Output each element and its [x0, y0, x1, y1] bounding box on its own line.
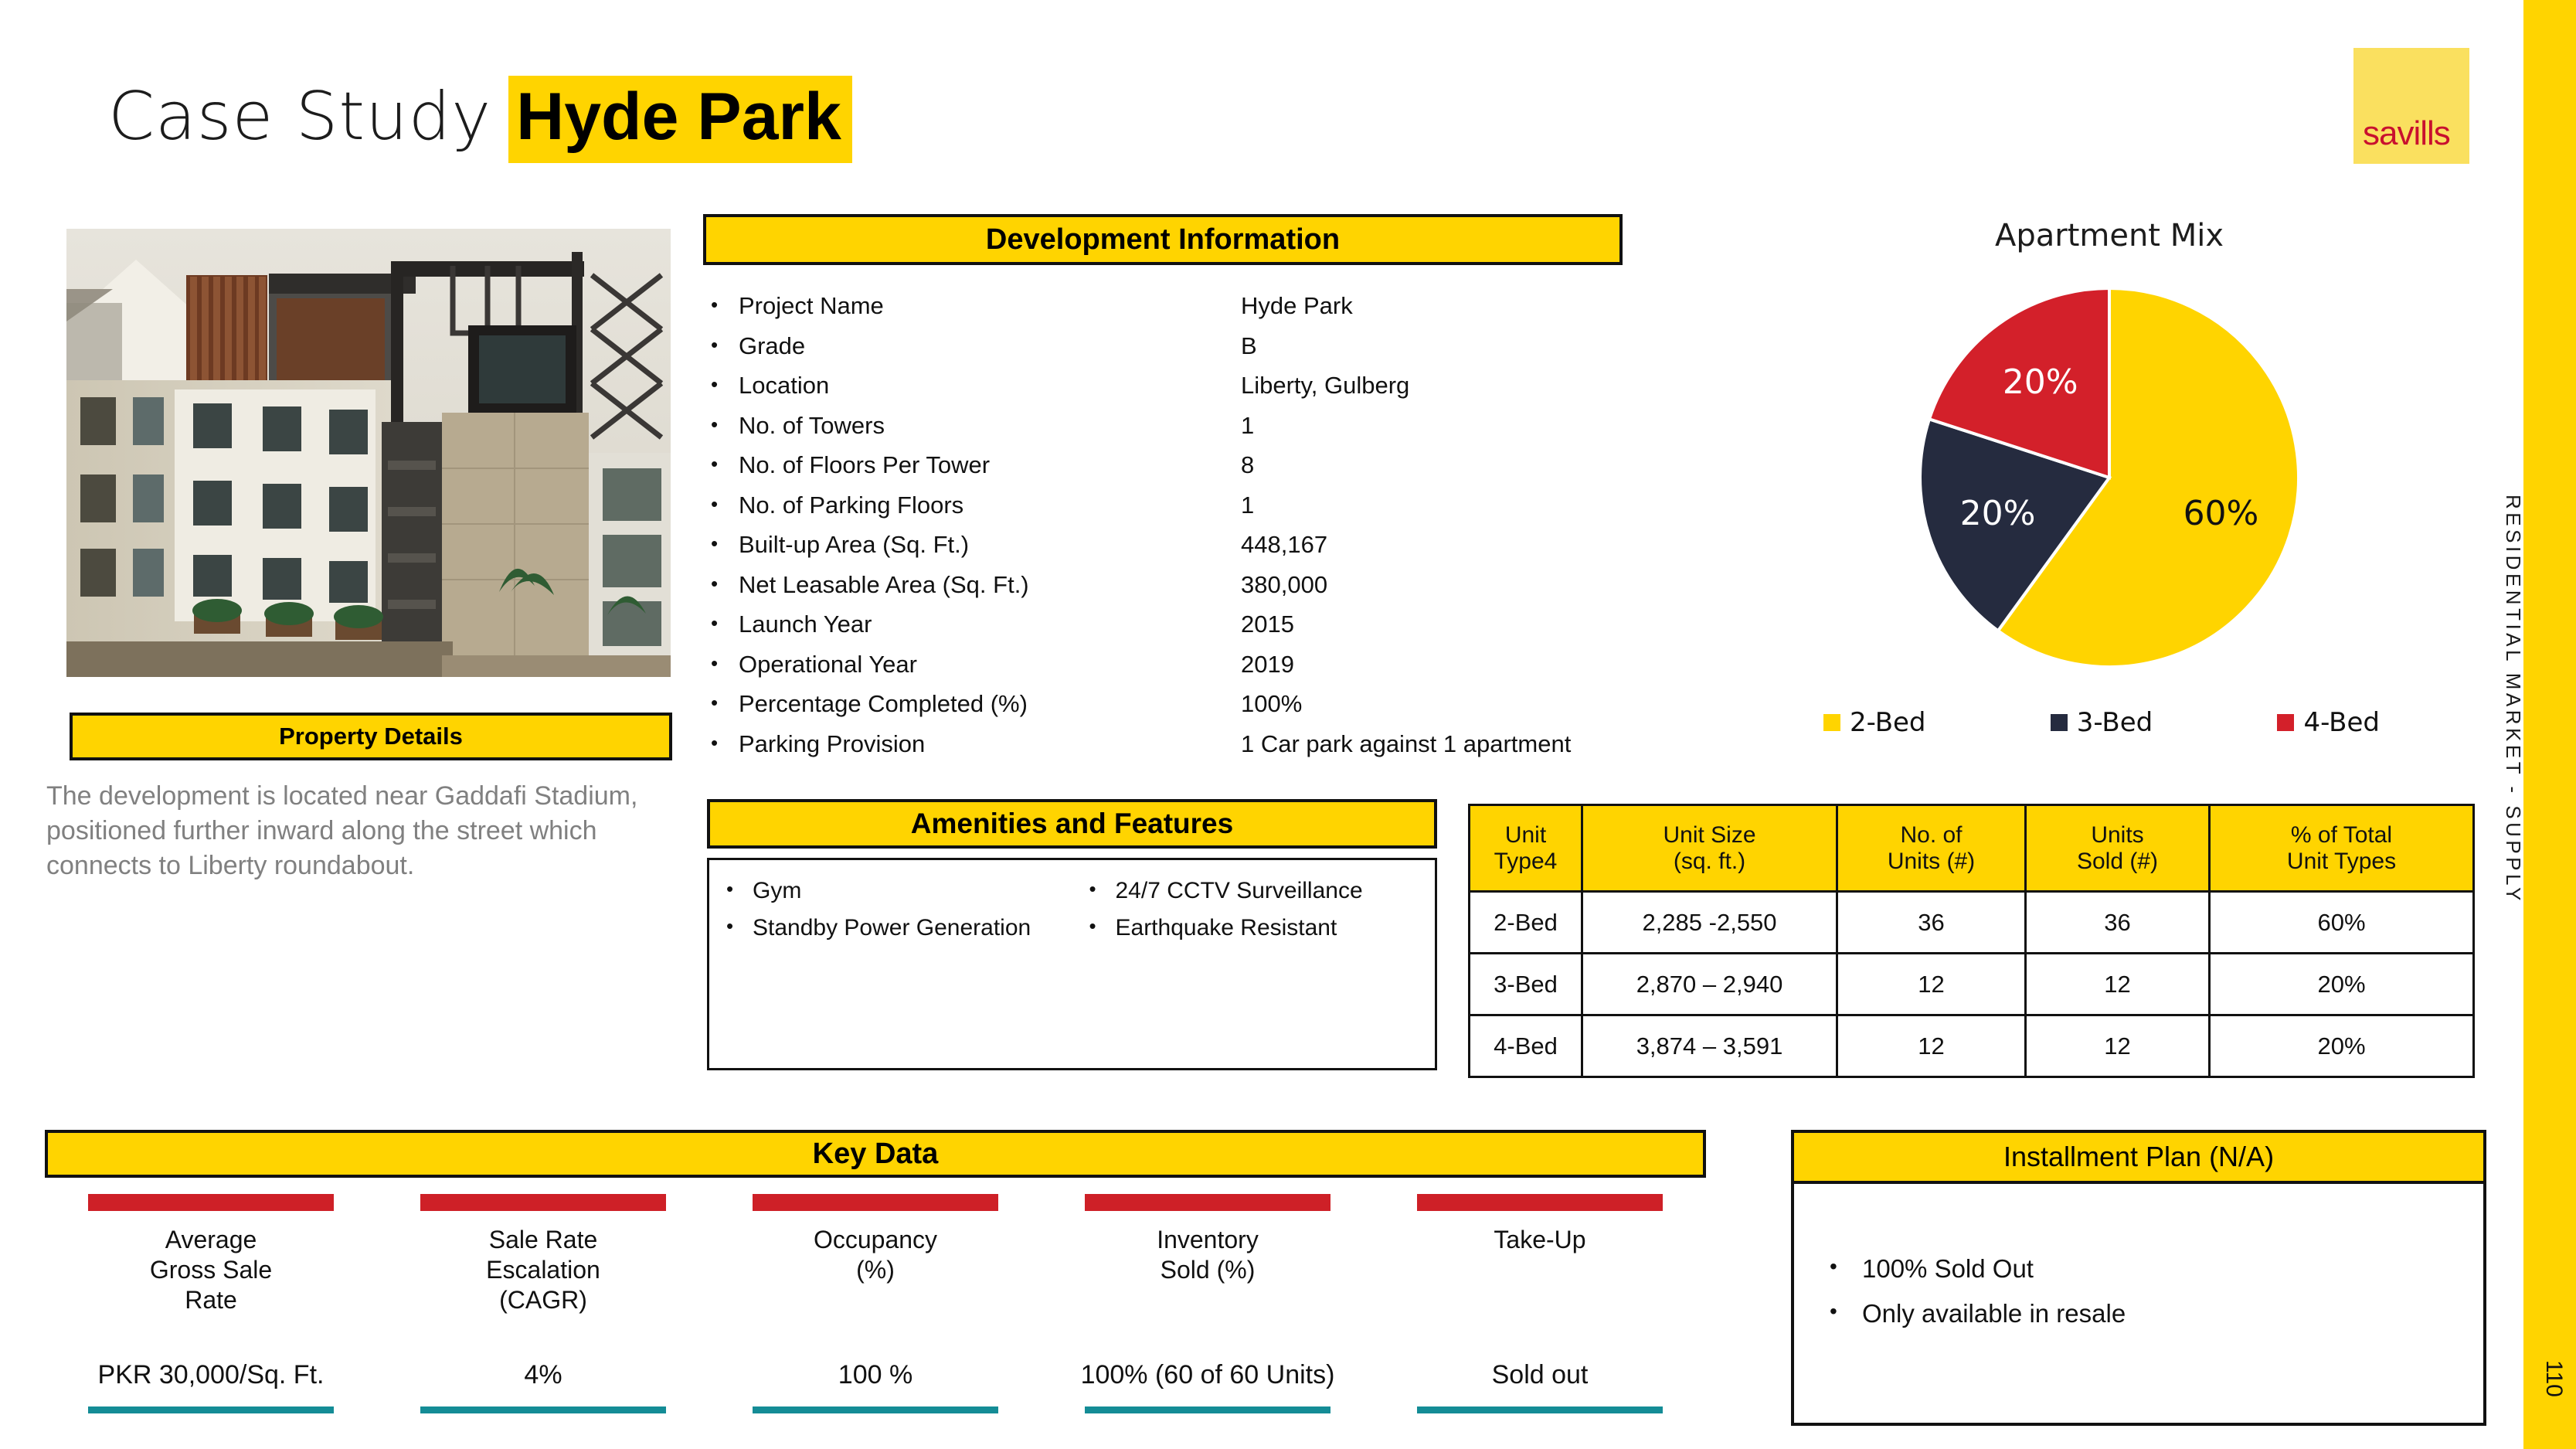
amenity-label: Standby Power Generation	[753, 914, 1072, 942]
unit-table-cell: 4-Bed	[1470, 1015, 1582, 1077]
savills-logo: savills	[2353, 48, 2469, 164]
unit-table-col-header: Unit Size(sq. ft.)	[1582, 805, 1837, 892]
development-info-value: 1 Car park against 1 apartment	[1241, 730, 1653, 759]
key-data-value: Sold out	[1374, 1360, 1706, 1390]
key-data-metric: Sale RateEscalation(CAGR)4%	[377, 1194, 709, 1426]
development-info-row: •Launch Year2015	[711, 611, 1653, 651]
unit-table-cell: 2-Bed	[1470, 892, 1582, 954]
unit-table-cell: 3,874 – 3,591	[1582, 1015, 1837, 1077]
key-data-value: 4%	[377, 1360, 709, 1390]
page-title-prefix: Case Study	[108, 78, 508, 155]
amenities-right-column: •24/7 CCTV Surveillance•Earthquake Resis…	[1072, 877, 1436, 1068]
development-info-row: •Percentage Completed (%)100%	[711, 690, 1653, 730]
unit-table-col-header-line: % of Total	[2212, 822, 2471, 849]
bullet-icon: •	[726, 914, 753, 942]
amenity-label: Gym	[753, 877, 1072, 905]
development-info-label: Net Leasable Area (Sq. Ft.)	[739, 571, 1241, 600]
legend-item-2-bed: 2-Bed	[1823, 707, 1926, 738]
amenity-label: Earthquake Resistant	[1116, 914, 1436, 942]
development-info-value: 1	[1241, 492, 1653, 520]
pie-label-3-bed: 20%	[1960, 494, 2036, 533]
development-info-value: 1	[1241, 412, 1653, 440]
key-data-metric: AverageGross SaleRatePKR 30,000/Sq. Ft.	[45, 1194, 377, 1426]
unit-table-cell: 20%	[2210, 1015, 2474, 1077]
development-info-value: Liberty, Gulberg	[1241, 372, 1653, 400]
unit-table-cell: 12	[2026, 1015, 2210, 1077]
unit-table-cell: 36	[2026, 892, 2210, 954]
key-data-value: PKR 30,000/Sq. Ft.	[45, 1360, 377, 1390]
bullet-icon: •	[726, 877, 753, 905]
unit-table-col-header-line: Units	[2028, 822, 2207, 849]
table-row: 3-Bed2,870 – 2,940121220%	[1470, 954, 2474, 1015]
development-info-row: •GradeB	[711, 332, 1653, 372]
unit-table-col-header-line: Unit	[1472, 822, 1579, 849]
side-rail-label: RESIDENTIAL MARKET - SUPPLY	[2501, 495, 2525, 1036]
amenity-item: •Earthquake Resistant	[1089, 914, 1436, 942]
bullet-icon: •	[711, 451, 739, 477]
legend-swatch-icon	[2277, 714, 2294, 731]
bullet-icon: •	[711, 492, 739, 517]
key-data-underline	[753, 1406, 998, 1413]
unit-table-cell: 2,285 -2,550	[1582, 892, 1837, 954]
key-data-top-bar	[88, 1194, 334, 1211]
bullet-icon: •	[711, 730, 739, 756]
bullet-icon: •	[711, 372, 739, 397]
development-information-list: •Project NameHyde Park•GradeB•LocationLi…	[711, 292, 1653, 770]
key-data-metric: InventorySold (%)100% (60 of 60 Units)	[1042, 1194, 1374, 1426]
bullet-icon: •	[711, 571, 739, 597]
amenities-left-column: •Gym•Standby Power Generation	[709, 877, 1072, 1068]
development-info-value: 2015	[1241, 611, 1653, 639]
apartment-mix-pie-chart: 60%20%20%	[1891, 284, 2328, 671]
pie-svg: 60%20%20%	[1891, 284, 2328, 671]
amenity-label: 24/7 CCTV Surveillance	[1116, 877, 1436, 905]
pie-label-2-bed: 60%	[2183, 494, 2259, 533]
legend-swatch-icon	[2051, 714, 2068, 731]
amenities-header: Amenities and Features	[707, 799, 1437, 849]
development-info-label: Launch Year	[739, 611, 1241, 639]
development-info-value: 8	[1241, 451, 1653, 480]
development-info-value: 100%	[1241, 690, 1653, 719]
unit-table-cell: 36	[1837, 892, 2026, 954]
unit-table-col-header: UnitType4	[1470, 805, 1582, 892]
installment-plan-box: Installment Plan (N/A) •100% Sold Out•On…	[1791, 1130, 2486, 1426]
unit-table-col-header-line: Unit Types	[2212, 849, 2471, 875]
bullet-icon: •	[711, 332, 739, 358]
bullet-icon: •	[1830, 1253, 1862, 1284]
key-data-metric: Occupancy(%)100 %	[709, 1194, 1042, 1426]
legend-label: 4-Bed	[2303, 707, 2380, 738]
development-info-label: No. of Parking Floors	[739, 492, 1241, 520]
key-data-label-line: Escalation	[377, 1255, 709, 1285]
key-data-value: 100 %	[709, 1360, 1042, 1390]
development-info-value: Hyde Park	[1241, 292, 1653, 321]
unit-table-col-header-line: Type4	[1472, 849, 1579, 875]
bullet-icon: •	[1089, 877, 1116, 905]
pie-label-4-bed: 20%	[2003, 362, 2078, 402]
key-data-label: InventorySold (%)	[1042, 1225, 1374, 1285]
development-info-label: Percentage Completed (%)	[739, 690, 1241, 719]
bullet-icon: •	[711, 690, 739, 716]
key-data-label-line: Sale Rate	[377, 1225, 709, 1255]
page-title-highlight: Hyde Park	[508, 76, 852, 163]
development-info-row: •Net Leasable Area (Sq. Ft.)380,000	[711, 571, 1653, 611]
development-info-label: Project Name	[739, 292, 1241, 321]
unit-table-col-header-line: Unit Size	[1585, 822, 1834, 849]
development-info-value: 2019	[1241, 651, 1653, 679]
building-photo	[66, 229, 671, 677]
development-info-row: •No. of Towers1	[711, 412, 1653, 452]
bullet-icon: •	[711, 611, 739, 636]
savills-logo-text: savills	[2363, 114, 2450, 153]
key-data-top-bar	[753, 1194, 998, 1211]
key-data-label-line: Average	[45, 1225, 377, 1255]
unit-table-col-header-line: No. of	[1840, 822, 2023, 849]
installment-plan-label: Only available in resale	[1862, 1298, 2126, 1329]
development-info-row: •LocationLiberty, Gulberg	[711, 372, 1653, 412]
key-data-label-line: Rate	[45, 1285, 377, 1315]
bullet-icon: •	[711, 292, 739, 318]
key-data-value: 100% (60 of 60 Units)	[1042, 1360, 1374, 1390]
development-info-row: •Operational Year2019	[711, 651, 1653, 691]
unit-table-col-header-line: (sq. ft.)	[1585, 849, 1834, 875]
key-data-columns: AverageGross SaleRatePKR 30,000/Sq. Ft.S…	[45, 1194, 1706, 1426]
key-data-label-line: (CAGR)	[377, 1285, 709, 1315]
page-title: Case Study Hyde Park	[108, 76, 852, 163]
unit-table-cell: 2,870 – 2,940	[1582, 954, 1837, 1015]
development-info-label: No. of Floors Per Tower	[739, 451, 1241, 480]
bullet-icon: •	[711, 531, 739, 556]
slide-canvas: Case Study Hyde Park savills	[0, 0, 2576, 1449]
property-details-body: The development is located near Gaddafi …	[46, 779, 664, 884]
key-data-header: Key Data	[45, 1130, 1706, 1178]
unit-table-col-header: % of TotalUnit Types	[2210, 805, 2474, 892]
property-details-header: Property Details	[70, 713, 672, 760]
amenity-item: •Standby Power Generation	[726, 914, 1072, 942]
unit-table-col-header: UnitsSold (#)	[2026, 805, 2210, 892]
unit-table-cell: 3-Bed	[1470, 954, 1582, 1015]
unit-type-table-header-row: UnitType4Unit Size(sq. ft.)No. ofUnits (…	[1470, 805, 2474, 892]
development-info-label: Grade	[739, 332, 1241, 361]
development-info-label: No. of Towers	[739, 412, 1241, 440]
unit-table-cell: 12	[2026, 954, 2210, 1015]
key-data-label-line: (%)	[709, 1255, 1042, 1285]
development-info-label: Parking Provision	[739, 730, 1241, 759]
development-info-value: 380,000	[1241, 571, 1653, 600]
legend-label: 3-Bed	[2077, 707, 2153, 738]
unit-table-cell: 12	[1837, 1015, 2026, 1077]
unit-table-col-header: No. ofUnits (#)	[1837, 805, 2026, 892]
development-info-row: •No. of Floors Per Tower8	[711, 451, 1653, 492]
building-photo-illustration	[66, 229, 671, 677]
development-info-row: •No. of Parking Floors1	[711, 492, 1653, 532]
key-data-top-bar	[1417, 1194, 1663, 1211]
legend-label: 2-Bed	[1850, 707, 1926, 738]
key-data-label-line: Sold (%)	[1042, 1255, 1374, 1285]
installment-plan-label: 100% Sold Out	[1862, 1253, 2034, 1284]
apartment-mix-title: Apartment Mix	[1839, 218, 2380, 253]
amenities-box: •Gym•Standby Power Generation •24/7 CCTV…	[707, 858, 1437, 1070]
unit-table-cell: 60%	[2210, 892, 2474, 954]
development-info-value: B	[1241, 332, 1653, 361]
bullet-icon: •	[711, 651, 739, 676]
legend-swatch-icon	[1823, 714, 1840, 731]
development-info-row: •Built-up Area (Sq. Ft.)448,167	[711, 531, 1653, 571]
key-data-label: Take-Up	[1374, 1225, 1706, 1255]
unit-type-table: UnitType4Unit Size(sq. ft.)No. ofUnits (…	[1468, 804, 2475, 1078]
key-data-metric: Take-UpSold out	[1374, 1194, 1706, 1426]
development-info-label: Built-up Area (Sq. Ft.)	[739, 531, 1241, 560]
unit-table-col-header-line: Units (#)	[1840, 849, 2023, 875]
development-info-label: Location	[739, 372, 1241, 400]
key-data-label-line: Occupancy	[709, 1225, 1042, 1255]
apartment-mix-legend: 2-Bed3-Bed4-Bed	[1823, 707, 2380, 738]
key-data-label: Occupancy(%)	[709, 1225, 1042, 1285]
development-info-row: •Project NameHyde Park	[711, 292, 1653, 332]
key-data-label-line: Take-Up	[1374, 1225, 1706, 1255]
table-row: 2-Bed2,285 -2,550363660%	[1470, 892, 2474, 954]
key-data-label-line: Gross Sale	[45, 1255, 377, 1285]
amenity-item: •Gym	[726, 877, 1072, 905]
key-data-underline	[420, 1406, 666, 1413]
key-data-label: AverageGross SaleRate	[45, 1225, 377, 1315]
key-data-underline	[1085, 1406, 1330, 1413]
key-data-top-bar	[420, 1194, 666, 1211]
amenity-item: •24/7 CCTV Surveillance	[1089, 877, 1436, 905]
installment-plan-list: •100% Sold Out•Only available in resale	[1794, 1184, 2483, 1328]
installment-plan-header: Installment Plan (N/A)	[1794, 1133, 2483, 1184]
key-data-underline	[1417, 1406, 1663, 1413]
side-rail	[2523, 0, 2576, 1449]
table-row: 4-Bed3,874 – 3,591121220%	[1470, 1015, 2474, 1077]
key-data-underline	[88, 1406, 334, 1413]
legend-item-3-bed: 3-Bed	[2051, 707, 2153, 738]
installment-plan-item: •100% Sold Out	[1830, 1253, 2483, 1284]
bullet-icon: •	[1830, 1298, 1862, 1329]
bullet-icon: •	[1089, 914, 1116, 942]
key-data-top-bar	[1085, 1194, 1330, 1211]
unit-table-cell: 12	[1837, 954, 2026, 1015]
unit-type-table-body: 2-Bed2,285 -2,550363660%3-Bed2,870 – 2,9…	[1470, 892, 2474, 1077]
key-data-label-line: Inventory	[1042, 1225, 1374, 1255]
bullet-icon: •	[711, 412, 739, 437]
unit-table-col-header-line: Sold (#)	[2028, 849, 2207, 875]
page-number: 110	[2540, 1360, 2567, 1397]
development-info-label: Operational Year	[739, 651, 1241, 679]
legend-item-4-bed: 4-Bed	[2277, 707, 2380, 738]
key-data-label: Sale RateEscalation(CAGR)	[377, 1225, 709, 1315]
installment-plan-item: •Only available in resale	[1830, 1298, 2483, 1329]
unit-table-cell: 20%	[2210, 954, 2474, 1015]
development-information-header: Development Information	[703, 214, 1623, 265]
development-info-row: •Parking Provision1 Car park against 1 a…	[711, 730, 1653, 770]
development-info-value: 448,167	[1241, 531, 1653, 560]
